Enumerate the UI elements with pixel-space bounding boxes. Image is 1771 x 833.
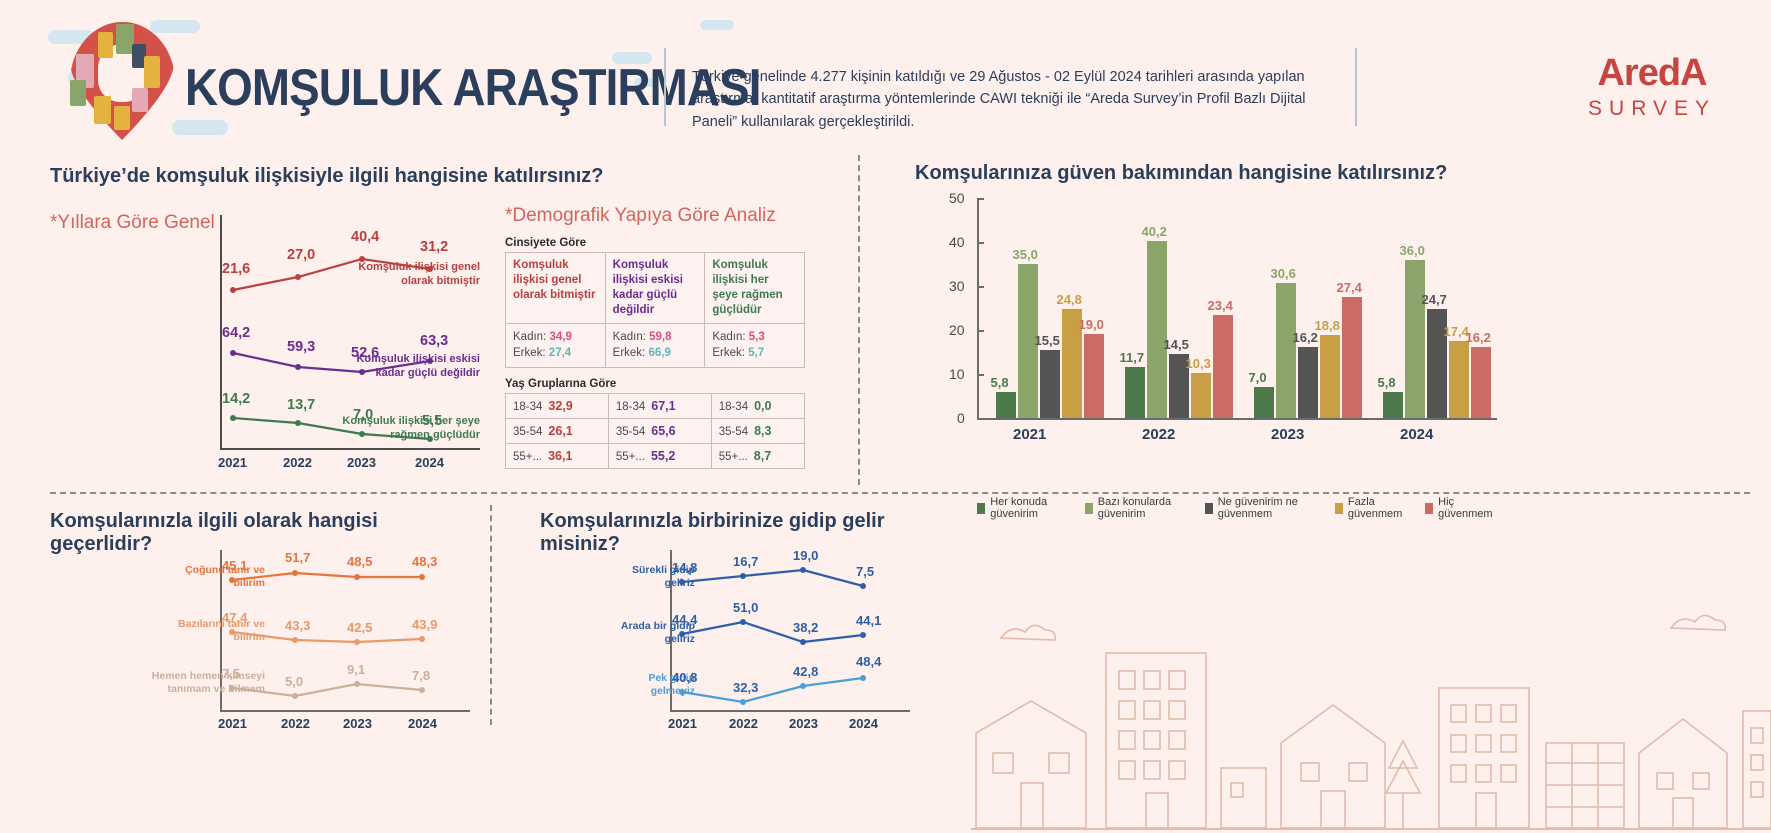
line-series-2 — [610, 550, 920, 725]
data-point — [295, 274, 301, 280]
age-table-caption: Yaş Gruplarına Göre — [505, 378, 820, 390]
map-pin-city-icon — [60, 22, 190, 142]
x-axis-label: 2022 — [283, 455, 312, 470]
x-axis-label: 2023 — [789, 716, 818, 731]
data-label: 13,7 — [287, 397, 315, 413]
data-point — [427, 266, 433, 272]
panel-know-neighbors: Komşularınızla ilgili olarak hangisi geç… — [50, 505, 480, 735]
bar-value-label: 5,8 — [991, 375, 1009, 390]
data-label: 59,3 — [287, 339, 315, 355]
gender-cell: Kadın: 5,3 — [712, 329, 797, 346]
bar — [1320, 335, 1340, 418]
legend-label: Bazı konularda güvenirim — [1098, 496, 1191, 520]
bar-value-label: 15,5 — [1035, 333, 1060, 348]
panel3-title: Komşularınıza güven bakımından hangisine… — [915, 162, 1447, 185]
data-label: 52,6 — [351, 345, 379, 361]
gender-cell: Kadın: 34,9 — [513, 329, 598, 346]
data-point — [359, 256, 365, 262]
bar — [1276, 283, 1296, 418]
x-axis-label: 2022 — [1142, 426, 1175, 443]
line-chart-know-neighbors: Çoğunu tanır ve bilirim 45,1 51,7 48,5 4… — [160, 550, 470, 725]
gender-table: Komşuluk ilişkisi genel olarak bitmiştir… — [505, 252, 805, 368]
gender-cell: Erkek: 66,9 — [613, 345, 698, 362]
x-axis-label: 2021 — [1013, 426, 1046, 443]
legend-item-2[interactable]: Ne güvenirim ne güvenmem — [1205, 496, 1321, 520]
data-point — [295, 420, 301, 426]
bar — [1298, 347, 1318, 418]
data-label: 42,8 — [793, 664, 818, 679]
chart-legend: Her konuda güvenirimBazı konularda güven… — [977, 496, 1495, 520]
bar — [1125, 367, 1145, 418]
bar — [1147, 241, 1167, 418]
data-label: 5,0 — [285, 674, 303, 689]
line-chart-visit: Sürekli gidip geliriz 14,8 16,7 19,0 7,5… — [610, 550, 920, 725]
x-axis-label: 2023 — [1271, 426, 1304, 443]
table-header-row: Komşuluk ilişkisi genel olarak bitmiştir… — [506, 253, 805, 324]
bar — [1342, 297, 1362, 418]
bar-value-label: 10,3 — [1186, 356, 1211, 371]
bar-value-label: 36,0 — [1400, 243, 1425, 258]
data-point — [292, 693, 298, 699]
bar-chart-trust: 50 40 30 20 10 0 5,835,015,524,819,011,7… — [915, 198, 1495, 438]
cloud-decoration — [700, 20, 734, 30]
gender-cell: Erkek: 27,4 — [513, 345, 598, 362]
bar-value-label: 30,6 — [1271, 266, 1296, 281]
x-axis-label: 2021 — [218, 716, 247, 731]
gender-cell: Kadın: 59,8 — [613, 329, 698, 346]
x-axis-label: 2023 — [347, 455, 376, 470]
legend-item-4[interactable]: Hiç güvenmem — [1425, 496, 1495, 520]
legend-item-3[interactable]: Fazla güvenmem — [1335, 496, 1411, 520]
horizontal-divider — [50, 492, 1750, 494]
legend-label: Hiç güvenmem — [1438, 496, 1495, 520]
bar-value-label: 27,4 — [1337, 280, 1362, 295]
data-label: 40,4 — [351, 229, 379, 245]
data-point — [229, 685, 235, 691]
data-label: 40,8 — [672, 670, 697, 685]
data-point — [800, 683, 806, 689]
data-point — [419, 687, 425, 693]
brand-name: AredA — [1588, 52, 1716, 95]
panel2-subtitle: *Demografik Yapıya Göre Analiz — [505, 205, 820, 227]
bar — [1471, 347, 1491, 418]
data-label: 32,3 — [733, 680, 758, 695]
bar — [996, 392, 1016, 418]
data-point — [740, 699, 746, 705]
data-point — [230, 415, 236, 421]
header: KOMŞULUK ARAŞTIRMASI Türkiye genelinde 4… — [0, 0, 1771, 150]
bar-value-label: 7,0 — [1249, 370, 1267, 385]
panel1-title: Türkiye’de komşuluk ilişkisiyle ilgili h… — [50, 165, 604, 188]
bar-value-label: 14,5 — [1164, 337, 1189, 352]
table-row: Kadın: 34,9 Erkek: 27,4 Kadın: 59,8 Erke… — [506, 323, 805, 367]
x-axis-label: 2024 — [849, 716, 878, 731]
bar — [1405, 260, 1425, 418]
x-axis-label: 2021 — [668, 716, 697, 731]
x-axis-label: 2024 — [408, 716, 437, 731]
vertical-divider-2 — [490, 505, 492, 725]
legend-swatch — [977, 503, 985, 514]
x-axis-label: 2022 — [281, 716, 310, 731]
legend-swatch — [1335, 503, 1343, 514]
data-label: 5,5 — [422, 413, 442, 429]
x-axis — [220, 448, 480, 450]
legend-label: Ne güvenirim ne güvenmem — [1218, 496, 1321, 520]
header-divider-right — [1355, 48, 1357, 126]
bar — [1040, 350, 1060, 418]
table-row: 18-3432,9 18-3467,1 18-340,0 — [506, 394, 805, 419]
data-point — [295, 364, 301, 370]
legend-label: Fazla güvenmem — [1348, 496, 1411, 520]
data-point — [354, 681, 360, 687]
city-skyline-illustration — [971, 593, 1771, 833]
bar-value-label: 24,8 — [1057, 292, 1082, 307]
line-chart-general: Komşuluk ilişkisi genel olarak bitmiştir… — [170, 215, 480, 470]
brand-subtitle: SURVEY — [1588, 97, 1716, 121]
data-point — [359, 369, 365, 375]
series-label-0: Komşuluk ilişkisi genel olarak bitmiştir — [340, 261, 480, 289]
data-label: 48,4 — [856, 654, 881, 669]
data-label: 21,6 — [222, 261, 250, 277]
column-header-1: Komşuluk ilişkisi eskisi kadar güçlü değ… — [613, 258, 698, 318]
infographic-root: KOMŞULUK ARAŞTIRMASI Türkiye genelinde 4… — [0, 0, 1771, 833]
data-point — [427, 358, 433, 364]
column-header-2: Komşuluk ilişkisi her şeye rağmen güçlüd… — [712, 258, 797, 318]
legend-item-1[interactable]: Bazı konularda güvenirim — [1085, 496, 1191, 520]
panel-visit-neighbors: Komşularınızla birbirinize gidip gelir m… — [540, 505, 940, 735]
legend-swatch — [1425, 503, 1434, 514]
table-row: 35-5426,1 35-5465,6 35-548,3 — [506, 419, 805, 444]
x-axis-label: 2021 — [218, 455, 247, 470]
panel-demographic-analysis: *Demografik Yapıya Göre Analiz Cinsiyete… — [500, 205, 820, 469]
legend-item-0[interactable]: Her konuda güvenirim — [977, 496, 1071, 520]
data-point — [679, 689, 685, 695]
legend-swatch — [1205, 503, 1213, 514]
data-label: 7,0 — [353, 407, 373, 423]
page-title: KOMŞULUK ARAŞTIRMASI — [185, 58, 761, 118]
bar — [1191, 373, 1211, 418]
bar-value-label: 40,2 — [1142, 224, 1167, 239]
column-header-0: Komşuluk ilişkisi genel olarak bitmiştir — [513, 258, 598, 303]
gender-cell: Erkek: 5,7 — [712, 345, 797, 362]
bars-container: 5,835,015,524,819,011,740,214,510,323,47… — [979, 198, 1495, 418]
bar-value-label: 35,0 — [1013, 247, 1038, 262]
bar — [1254, 387, 1274, 418]
bar — [1449, 341, 1469, 418]
data-point — [230, 350, 236, 356]
data-point — [230, 287, 236, 293]
legend-swatch — [1085, 503, 1093, 514]
bar-value-label: 24,7 — [1422, 292, 1447, 307]
bar-value-label: 19,0 — [1079, 317, 1104, 332]
data-label: 14,2 — [222, 391, 250, 407]
x-axis-label: 2023 — [343, 716, 372, 731]
data-label: 7,8 — [412, 668, 430, 683]
data-point — [860, 675, 866, 681]
panel-neighbor-trust: Komşularınıza güven bakımından hangisine… — [855, 150, 1755, 490]
bar — [1084, 334, 1104, 418]
data-point — [427, 436, 433, 442]
bar — [1213, 315, 1233, 418]
data-label: 31,2 — [420, 239, 448, 255]
gender-table-caption: Cinsiyete Göre — [505, 237, 820, 249]
bar-value-label: 16,2 — [1466, 330, 1491, 345]
bar-value-label: 11,7 — [1120, 350, 1145, 365]
data-label: 63,3 — [420, 333, 448, 349]
data-label: 64,2 — [222, 325, 250, 341]
x-axis-label: 2022 — [729, 716, 758, 731]
legend-label: Her konuda güvenirim — [990, 496, 1070, 520]
bar-value-label: 5,8 — [1378, 375, 1396, 390]
data-label: 27,0 — [287, 247, 315, 263]
x-axis-label: 2024 — [1400, 426, 1433, 443]
header-divider-left — [664, 48, 666, 126]
data-point — [359, 431, 365, 437]
table-row: 55+...36,1 55+...55,2 55+...8,7 — [506, 444, 805, 469]
bar-value-label: 18,8 — [1315, 318, 1340, 333]
data-label: 7,5 — [222, 666, 240, 681]
header-description: Türkiye genelinde 4.277 kişinin katıldığ… — [692, 66, 1342, 133]
data-label: 9,1 — [347, 662, 365, 677]
age-table: 18-3432,9 18-3467,1 18-340,0 35-5426,1 3… — [505, 393, 805, 469]
x-axis-label: 2024 — [415, 455, 444, 470]
bar — [1383, 392, 1403, 418]
brand-logo: AredA SURVEY — [1588, 52, 1716, 121]
line-series-2 — [160, 550, 470, 725]
bar-value-label: 23,4 — [1208, 298, 1233, 313]
